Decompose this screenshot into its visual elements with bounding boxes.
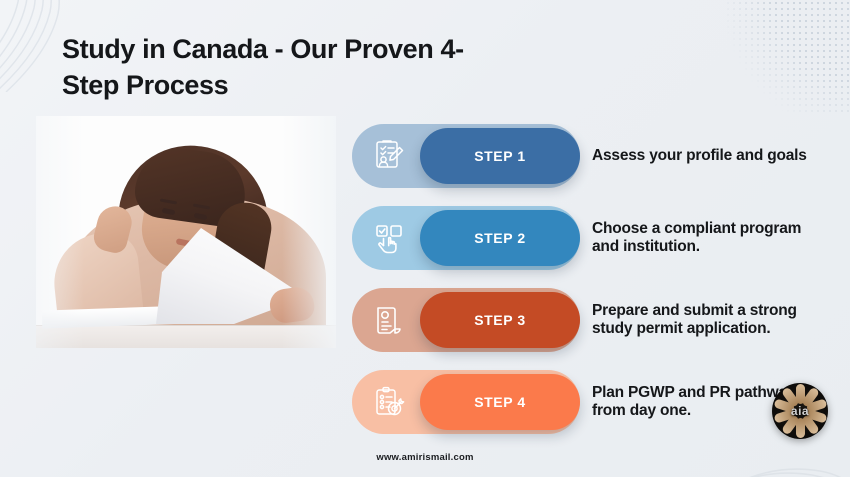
steps-list: STEP 1 Assess your profile and goals bbox=[352, 124, 582, 452]
step-row[interactable]: STEP 1 Assess your profile and goals bbox=[352, 124, 582, 188]
step-row[interactable]: STEP 4 Plan PGWP and PR pathways from da… bbox=[352, 370, 582, 434]
step-label: STEP 3 bbox=[474, 312, 526, 328]
step-pill[interactable]: STEP 4 bbox=[420, 374, 580, 430]
step-pill[interactable]: STEP 3 bbox=[420, 292, 580, 348]
step-pill[interactable]: STEP 1 bbox=[420, 128, 580, 184]
photo-edge-fade bbox=[36, 116, 336, 348]
logo-text: aia bbox=[791, 404, 809, 418]
brand-logo: aia bbox=[772, 383, 828, 439]
step-description: Assess your profile and goals bbox=[592, 147, 807, 165]
student-photo bbox=[36, 116, 336, 348]
page-title: Study in Canada - Our Proven 4-Step Proc… bbox=[62, 32, 512, 103]
step-row[interactable]: STEP 2 Choose a compliant program and in… bbox=[352, 206, 582, 270]
step-label: STEP 4 bbox=[474, 394, 526, 410]
hand-click-checkbox-icon bbox=[370, 220, 408, 258]
step-label: STEP 2 bbox=[474, 230, 526, 246]
step-pill[interactable]: STEP 2 bbox=[420, 210, 580, 266]
checklist-person-pencil-icon bbox=[370, 138, 408, 176]
halftone-dots-decoration-icon bbox=[725, 0, 850, 114]
clipboard-target-icon bbox=[370, 384, 408, 422]
document-id-card-icon bbox=[370, 302, 408, 340]
step-label: STEP 1 bbox=[474, 148, 526, 164]
infographic-canvas: Study in Canada - Our Proven 4-Step Proc… bbox=[0, 0, 850, 477]
step-row[interactable]: STEP 3 Prepare and submit a strong study… bbox=[352, 288, 582, 352]
footer-url[interactable]: www.amirismail.com bbox=[0, 452, 850, 463]
step-description: Prepare and submit a strong study permit… bbox=[592, 302, 807, 338]
step-description: Choose a compliant program and instituti… bbox=[592, 220, 807, 256]
